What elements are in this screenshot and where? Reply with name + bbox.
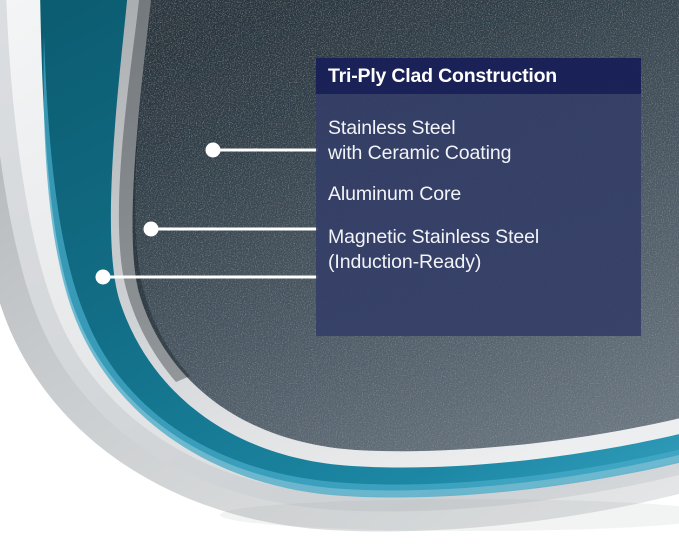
layer-label-magnetic-stainless: Magnetic Stainless Steel (Induction-Read… (328, 225, 631, 275)
panel-title: Tri-Ply Clad Construction (328, 65, 557, 88)
product-infographic: Tri-Ply Clad Construction Stainless Stee… (0, 0, 679, 555)
layer-label-aluminum-core: Aluminum Core (328, 182, 631, 207)
construction-info-panel: Tri-Ply Clad Construction Stainless Stee… (316, 58, 641, 336)
panel-layer-list: Stainless Steel with Ceramic Coating Alu… (316, 94, 641, 275)
panel-title-bar: Tri-Ply Clad Construction (316, 58, 641, 94)
layer-label-stainless-ceramic: Stainless Steel with Ceramic Coating (328, 116, 631, 166)
